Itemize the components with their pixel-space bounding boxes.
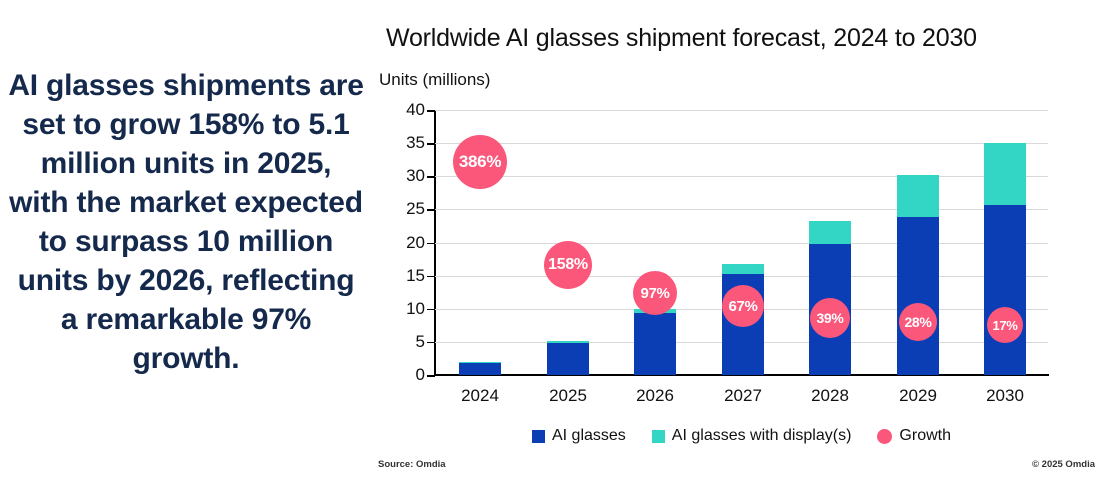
bar-segment-ai-glasses[interactable] — [984, 205, 1026, 375]
bar-segment-with-display[interactable] — [722, 264, 764, 273]
bar-segment-with-display[interactable] — [547, 341, 589, 342]
bar-segment-ai-glasses[interactable] — [547, 343, 589, 375]
x-tick-label: 2030 — [986, 386, 1024, 406]
chart-infographic: AI glasses shipments are set to grow 158… — [0, 0, 1103, 478]
y-tick-mark — [427, 342, 435, 344]
bar-segment-with-display[interactable] — [984, 143, 1026, 205]
y-tick-label: 15 — [393, 266, 425, 286]
y-tick-label: 35 — [393, 133, 425, 153]
growth-bubble[interactable]: 158% — [544, 241, 592, 289]
legend-square-icon — [652, 430, 665, 443]
legend-item[interactable]: Growth — [877, 427, 951, 445]
callout-text: AI glasses shipments are set to grow 158… — [8, 66, 364, 378]
y-tick-label: 5 — [393, 332, 425, 352]
x-tick-label: 2027 — [724, 386, 762, 406]
chart-legend: AI glassesAI glasses with display(s)Grow… — [435, 427, 1048, 445]
y-tick-mark — [427, 143, 435, 145]
x-tick-label: 2025 — [549, 386, 587, 406]
legend-label: AI glasses — [552, 427, 626, 445]
legend-item[interactable]: AI glasses — [532, 427, 626, 445]
y-tick-label: 40 — [393, 100, 425, 120]
y-tick-label: 20 — [393, 233, 425, 253]
growth-bubble[interactable]: 39% — [810, 298, 850, 338]
plot-area — [435, 110, 1048, 375]
growth-bubble[interactable]: 17% — [987, 307, 1023, 343]
bar-group[interactable] — [722, 110, 764, 375]
growth-bubble[interactable]: 28% — [899, 303, 937, 341]
growth-bubble[interactable]: 386% — [453, 135, 507, 189]
y-tick-label: 30 — [393, 166, 425, 186]
y-tick-mark — [427, 176, 435, 178]
bar-group[interactable] — [634, 110, 676, 375]
legend-item[interactable]: AI glasses with display(s) — [652, 427, 852, 445]
y-tick-mark — [427, 243, 435, 245]
x-tick-label: 2026 — [636, 386, 674, 406]
y-tick-label: 10 — [393, 299, 425, 319]
copyright-note: © 2025 Omdia — [1032, 459, 1095, 470]
y-tick-mark — [427, 276, 435, 278]
growth-bubble[interactable]: 97% — [633, 271, 677, 315]
x-tick-label: 2028 — [811, 386, 849, 406]
source-note: Source: Omdia — [378, 459, 446, 470]
y-tick-label: 0 — [393, 365, 425, 385]
bar-segment-ai-glasses[interactable] — [897, 217, 939, 375]
x-tick-label: 2029 — [899, 386, 937, 406]
y-tick-mark — [427, 209, 435, 211]
y-tick-mark — [427, 375, 435, 377]
growth-bubble[interactable]: 67% — [722, 285, 764, 327]
legend-label: Growth — [899, 427, 951, 445]
y-tick-label: 25 — [393, 199, 425, 219]
x-axis-tick-labels: 2024202520262027202820292030 — [435, 386, 1048, 410]
y-tick-mark — [427, 110, 435, 112]
bar-segment-with-display[interactable] — [459, 362, 501, 363]
chart-title: Worldwide AI glasses shipment forecast, … — [386, 24, 977, 53]
x-tick-label: 2024 — [461, 386, 499, 406]
bar-segment-ai-glasses[interactable] — [634, 313, 676, 375]
y-axis-tick-labels: 0510152025303540 — [387, 0, 425, 478]
legend-label: AI glasses with display(s) — [672, 427, 852, 445]
legend-square-icon — [532, 430, 545, 443]
bar-segment-with-display[interactable] — [897, 175, 939, 217]
bar-segment-with-display[interactable] — [809, 221, 851, 244]
legend-circle-icon — [877, 429, 892, 444]
y-tick-mark — [427, 309, 435, 311]
bar-segment-ai-glasses[interactable] — [459, 363, 501, 375]
